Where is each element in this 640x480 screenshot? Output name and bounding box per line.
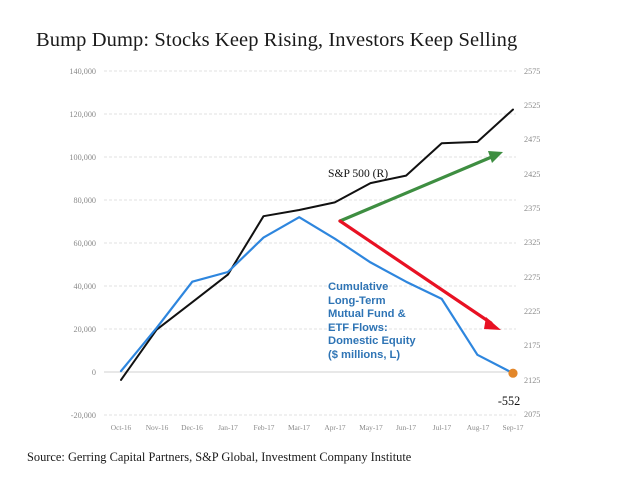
left-tick-label: 140,000: [69, 67, 96, 76]
series-line-cumulative-flows: [121, 217, 513, 373]
x-tick-label: Sep-17: [503, 423, 524, 432]
series-label-sp500: S&P 500 (R): [328, 167, 388, 180]
left-tick-label: 100,000: [69, 153, 96, 162]
right-tick-label: 2275: [524, 273, 540, 282]
x-tick-label: May-17: [359, 423, 383, 432]
x-tick-label: Jun-17: [396, 423, 416, 432]
x-tick-label: Mar-17: [288, 423, 310, 432]
x-tick-label: Aug-17: [467, 423, 490, 432]
right-tick-label: 2525: [524, 101, 540, 110]
gridlines: [104, 71, 516, 415]
x-tick-label: Oct-16: [111, 423, 132, 432]
x-tick-label: Nov-16: [146, 423, 169, 432]
callout-line: Domestic Equity: [328, 335, 416, 349]
left-tick-label: 40,000: [73, 282, 96, 291]
right-tick-label: 2475: [524, 135, 540, 144]
left-tick-label: 80,000: [73, 196, 96, 205]
right-tick-label: 2225: [524, 307, 540, 316]
right-axis-tick-labels: 2575 2525 2475 2425 2375 2325 2275 2225 …: [524, 67, 540, 419]
data-point-marker-sep17: [508, 369, 517, 378]
right-tick-label: 2125: [524, 376, 540, 385]
callout-line: ETF Flows:: [328, 322, 416, 336]
x-tick-label: Apr-17: [324, 423, 346, 432]
x-tick-label: Jul-17: [433, 423, 452, 432]
left-tick-label: -20,000: [71, 411, 96, 420]
chart-plot-area: 140,000 120,000 100,000 80,000 60,000 40…: [0, 0, 640, 480]
chart-container: Bump Dump: Stocks Keep Rising, Investors…: [0, 0, 640, 480]
callout-line: Cumulative: [328, 281, 416, 295]
callout-line: Long-Term: [328, 295, 416, 309]
left-tick-label: 20,000: [73, 325, 96, 334]
left-tick-label: 0: [92, 368, 96, 377]
right-tick-label: 2175: [524, 341, 540, 350]
right-tick-label: 2075: [524, 410, 540, 419]
callout-line: Mutual Fund &: [328, 308, 416, 322]
right-tick-label: 2375: [524, 204, 540, 213]
x-tick-label: Dec-16: [181, 423, 203, 432]
right-tick-label: 2425: [524, 170, 540, 179]
right-tick-label: 2325: [524, 238, 540, 247]
right-tick-label: 2575: [524, 67, 540, 76]
x-tick-label: Jan-17: [218, 423, 238, 432]
callout-line: ($ millions, L): [328, 349, 416, 363]
left-axis-tick-labels: 140,000 120,000 100,000 80,000 60,000 40…: [69, 67, 96, 420]
x-tick-label: Feb-17: [254, 423, 275, 432]
source-note: Source: Gerring Capital Partners, S&P Gl…: [27, 450, 411, 465]
series-line-sp500: [121, 110, 513, 380]
left-tick-label: 60,000: [73, 239, 96, 248]
data-point-label-sep17: -552: [498, 394, 520, 408]
left-tick-label: 120,000: [69, 110, 96, 119]
series-label-cumulative-flows: Cumulative Long-Term Mutual Fund & ETF F…: [328, 281, 416, 363]
x-axis-tick-labels: Oct-16 Nov-16 Dec-16 Jan-17 Feb-17 Mar-1…: [111, 423, 524, 432]
